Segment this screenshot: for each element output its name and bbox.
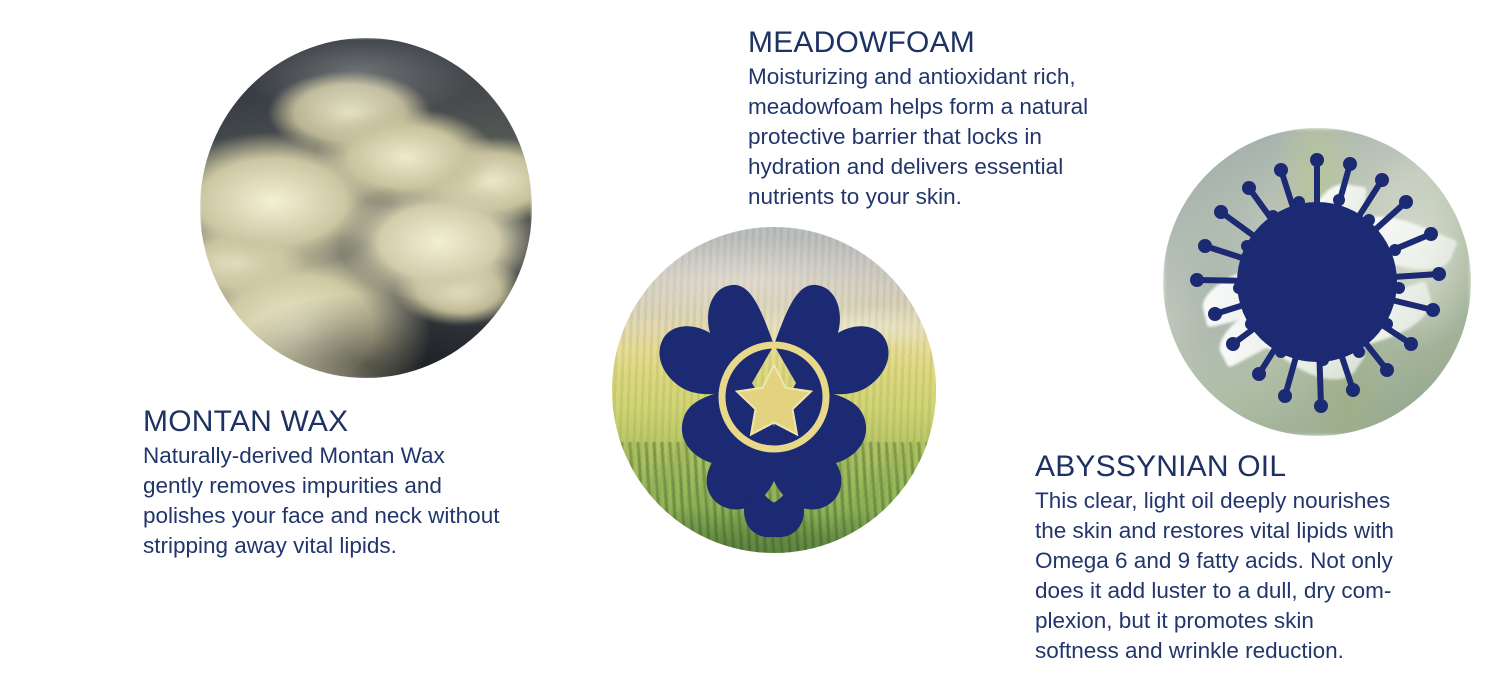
abyssinian-oil-title: ABYSSYNIAN OIL bbox=[1035, 450, 1465, 484]
body-line: meadowfoam helps form a natural bbox=[748, 92, 1158, 122]
abyssinian-oil-card: ABYSSYNIAN OIL This clear, light oil dee… bbox=[1035, 450, 1465, 666]
abyssinian-stamen-logo bbox=[1163, 128, 1471, 436]
meadowfoam-body: Moisturizing and antioxidant rich, meado… bbox=[748, 62, 1158, 212]
meadowfoam-card: MEADOWFOAM Moisturizing and antioxidant … bbox=[748, 26, 1158, 212]
body-line: Moisturizing and antioxidant rich, bbox=[748, 62, 1158, 92]
body-line: gently removes impurities and bbox=[143, 471, 573, 501]
body-line: hydration and delivers essential bbox=[748, 152, 1158, 182]
body-line: nutrients to your skin. bbox=[748, 182, 1158, 212]
montan-wax-body: Naturally-derived Montan Wax gently remo… bbox=[143, 441, 573, 561]
montan-wax-image bbox=[200, 38, 532, 378]
body-line: plexion, but it promotes skin bbox=[1035, 606, 1465, 636]
wax-sheen-overlay bbox=[200, 38, 532, 378]
ingredients-panel: MONTAN WAX Naturally-derived Montan Wax … bbox=[0, 0, 1500, 675]
body-line: does it add luster to a dull, dry com- bbox=[1035, 576, 1465, 606]
montan-wax-card: MONTAN WAX Naturally-derived Montan Wax … bbox=[143, 405, 573, 561]
body-line: Omega 6 and 9 fatty acids. Not only bbox=[1035, 546, 1465, 576]
body-line: Naturally-derived Montan Wax bbox=[143, 441, 573, 471]
abyssinian-image bbox=[1163, 128, 1471, 436]
meadowfoam-image bbox=[612, 227, 936, 553]
meadowfoam-flower-logo bbox=[612, 227, 936, 553]
meadowfoam-title: MEADOWFOAM bbox=[748, 26, 1158, 60]
montan-wax-title: MONTAN WAX bbox=[143, 405, 573, 439]
body-line: softness and wrinkle reduction. bbox=[1035, 636, 1465, 666]
body-line: protective barrier that locks in bbox=[748, 122, 1158, 152]
body-line: stripping away vital lipids. bbox=[143, 531, 573, 561]
abyssinian-oil-body: This clear, light oil deeply nourishes t… bbox=[1035, 486, 1465, 666]
body-line: polishes your face and neck without bbox=[143, 501, 573, 531]
navy-disc bbox=[1237, 202, 1397, 362]
body-line: This clear, light oil deeply nourishes bbox=[1035, 486, 1465, 516]
body-line: the skin and restores vital lipids with bbox=[1035, 516, 1465, 546]
